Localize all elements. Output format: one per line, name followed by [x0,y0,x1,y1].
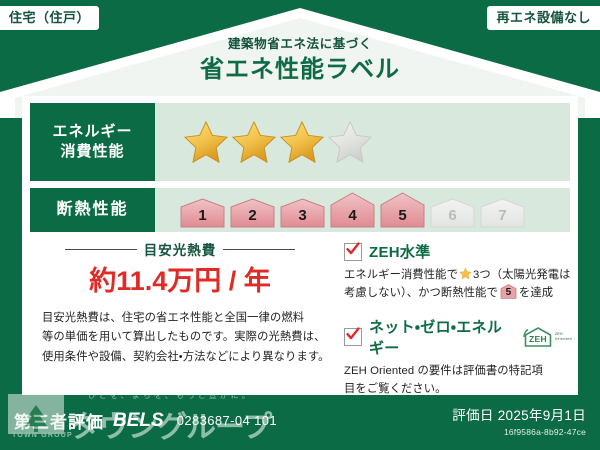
zeh-desc-part-d: を達成 [519,287,553,299]
star-icon-empty [327,119,373,165]
net-zero-desc-line-1: ZEH Oriented の要件は評価書の特記項 [344,362,572,380]
utility-cost-heading: 目安光熱費 [30,239,330,259]
evaluation-date: 評価日 2025年9月1日 [452,404,586,424]
star-rating [155,119,373,165]
document-hash: 16f9586a-8b92-47ce [452,427,586,437]
star-icon-filled [231,119,277,165]
insulation-level-7: 7 [479,198,526,228]
insulation-level-1: 1 [179,198,226,228]
insulation-level-scale: 1234567 [155,192,526,228]
insulation-level-6: 6 [429,198,476,228]
insulation-level-value: 5 [379,207,426,224]
star-icon-inline [459,267,472,280]
zeh-desc-part-a: エネルギー消費性能で [344,269,458,281]
zeh-standard-item: ZEH水準 エネルギー消費性能で3つ（太陽光発電は考慮しない）、かつ断熱性能で5… [344,241,572,303]
zeh-standard-title: ZEH水準 [369,241,431,262]
zeh-logo-subtext: ZEH Oriented [555,332,572,341]
zeh-desc-star-count: 3つ [473,269,491,281]
checkbox-checked-icon[interactable] [344,328,362,346]
star-icon-filled [279,119,325,165]
insulation-performance-row: 断熱性能 1234567 [30,188,570,232]
header-texts: 建築物省エネ法に基づく 省エネ性能ラベル [0,38,600,82]
insulation-level-value: 7 [479,207,526,224]
evaluation-date-label: 評価日 [452,408,493,423]
svg-text:ZEH: ZEH [529,334,547,344]
zeh-logo: ZEH ZEH Oriented [523,326,572,348]
main-panel: エネルギー 消費性能 断熱性能 1234567 目安光熱費 約11.4万円 / … [22,96,578,395]
insulation-level-value: 2 [229,207,276,224]
insulation-level-2: 2 [229,198,276,228]
energy-performance-label-box: エネルギー 消費性能 [30,103,155,181]
evaluation-id: 0283687-04 101 [177,413,277,428]
zeh-standard-description: エネルギー消費性能で3つ（太陽光発電は考慮しない）、かつ断熱性能で5を達成 [344,266,572,303]
energy-performance-row: エネルギー 消費性能 [30,103,570,181]
third-party-evaluation-label: 第三者評価 [14,408,104,433]
insulation-performance-label-box: 断熱性能 [30,188,155,232]
net-zero-title-row: ネット・ゼロ・エネルギー ZEH ZEH Oriented [344,316,572,358]
insulation-level-4: 4 [329,192,376,228]
insulation-badge-inline: 5 [500,284,517,299]
energy-rating-value [155,103,570,181]
zeh-logo-sub2: Oriented [555,337,572,341]
star-icon-filled [183,119,229,165]
zeh-standard-title-row: ZEH水準 [344,241,572,262]
net-zero-energy-item: ネット・ゼロ・エネルギー ZEH ZEH Oriented ZEH Orient… [344,316,572,399]
insulation-level-3: 3 [279,198,326,228]
tag-renewable-equipment: 再エネ設備なし [487,6,600,30]
net-zero-description: ZEH Oriented の要件は評価書の特記項 目をご覧ください。 [344,362,572,399]
energy-performance-label: 住宅（住戸） 再エネ設備なし 建築物省エネ法に基づく 省エネ性能ラベル エネルギ… [0,0,600,450]
note-line-3: 使用条件や設備、契約会社・方法などにより異なります。 [42,348,332,367]
evaluation-date-value: 2025年9月1日 [498,408,586,423]
insulation-level-value: 1 [179,207,226,224]
net-zero-title: ネット・ゼロ・エネルギー [369,316,514,358]
note-line-1: 目安光熱費は、住宅の省エネ性能と全国一律の燃料 [42,309,332,328]
header-subtitle: 建築物省エネ法に基づく [0,38,600,51]
footer-right: 評価日 2025年9月1日 16f9586a-8b92-47ce [452,404,586,437]
rule-left [65,249,137,250]
utility-cost-heading-text: 目安光熱費 [144,239,217,259]
energy-label-line2: 消費性能 [60,142,124,162]
zeh-desc-part-b: （太陽光発電 [491,269,559,281]
rule-right [223,249,295,250]
insulation-level-value: 6 [429,207,476,224]
utility-cost-block: 目安光熱費 約11.4万円 / 年 [30,239,330,295]
footer: 第三者評価 BELS 0283687-04 101 評価日 2025年9月1日 … [0,395,600,450]
insulation-level-5: 5 [379,192,426,228]
insulation-badge-value: 5 [500,285,517,301]
footer-left: 第三者評価 BELS 0283687-04 101 [14,408,277,433]
energy-label-line1: エネルギー [52,122,132,142]
checkbox-checked-icon[interactable] [344,243,362,261]
insulation-level-value: 3 [279,207,326,224]
bels-logo-text: BELS [113,410,164,432]
page-title: 省エネ性能ラベル [0,58,600,82]
note-line-2: 等の単価を用いて算出したものです。実際の光熱費は、 [42,328,332,347]
zeh-logo-sub1: ZEH [555,332,563,336]
insulation-rating-value: 1234567 [155,188,570,232]
utility-cost-amount: 約11.4万円 / 年 [30,268,330,295]
zeh-section: ZEH水準 エネルギー消費性能で3つ（太陽光発電は考慮しない）、かつ断熱性能で5… [344,241,572,411]
utility-cost-note: 目安光熱費は、住宅の省エネ性能と全国一律の燃料 等の単価を用いて算出したものです… [42,309,332,367]
insulation-level-value: 4 [329,207,376,224]
tag-housing-type: 住宅（住戸） [0,6,99,30]
